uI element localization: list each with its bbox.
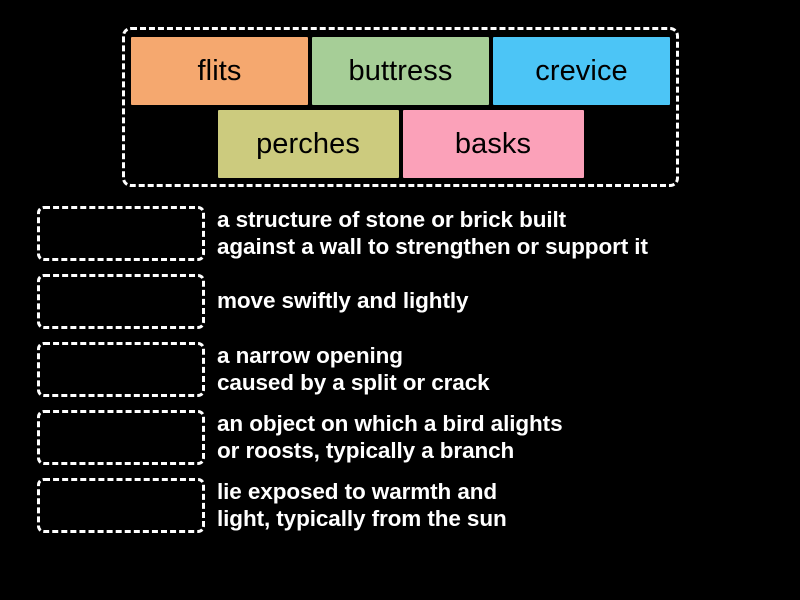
word-tile-flits[interactable]: flits [131,37,308,105]
definition-text-3: a narrow opening caused by a split or cr… [217,342,800,397]
drop-zone-5[interactable] [37,478,205,533]
definition-text-5: lie exposed to warmth and light, typical… [217,478,800,533]
word-tile-crevice[interactable]: crevice [493,37,670,105]
word-tile-buttress[interactable]: buttress [312,37,489,105]
definition-row: move swiftly and lightly [0,267,800,335]
definition-row: lie exposed to warmth and light, typical… [0,471,800,539]
definition-row: an object on which a bird alights or roo… [0,403,800,471]
drop-zone-2[interactable] [37,274,205,329]
word-tile-row-1: flits buttress crevice [131,37,670,105]
definition-row: a narrow opening caused by a split or cr… [0,335,800,403]
definition-row: a structure of stone or brick built agai… [0,199,800,267]
definition-text-1: a structure of stone or brick built agai… [217,206,800,261]
word-tile-basks[interactable]: basks [403,110,584,178]
drop-zone-3[interactable] [37,342,205,397]
definition-text-4: an object on which a bird alights or roo… [217,410,800,465]
word-bank-container: flits buttress crevice perches basks [122,27,679,187]
definition-list: a structure of stone or brick built agai… [0,199,800,539]
word-tile-perches[interactable]: perches [218,110,399,178]
drop-zone-4[interactable] [37,410,205,465]
definition-text-2: move swiftly and lightly [217,287,800,314]
word-tile-row-2: perches basks [131,110,670,178]
drop-zone-1[interactable] [37,206,205,261]
